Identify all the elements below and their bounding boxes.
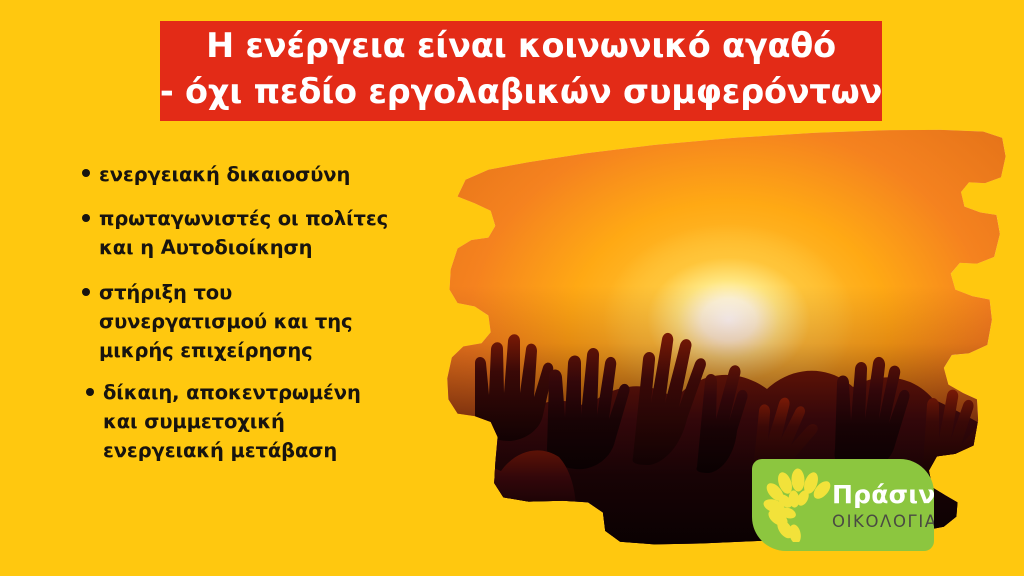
title-line-2: - όχι πεδίο εργολαβικών συμφερόντων xyxy=(160,69,882,115)
bullet-line: δίκαιη, αποκεντρωμένη xyxy=(103,381,361,404)
logo-text-block: Πράσινοι ΟΙΚΟΛΟΓΙΑ! xyxy=(832,481,934,533)
logo-prasinoi[interactable]: Πράσινοι ΟΙΚΟΛΟΓΙΑ! xyxy=(752,459,934,551)
bullet-item-text: δίκαιη, αποκεντρωμένη και συμμετοχική εν… xyxy=(103,378,361,465)
poster-canvas: Η ενέργεια είναι κοινωνικό αγαθό - όχι π… xyxy=(0,0,1024,576)
bullet-list: ενεργειακή δικαιοσύνη πρωταγωνιστές οι π… xyxy=(82,160,432,480)
bullet-line: ενεργειακή μετάβαση xyxy=(103,439,337,462)
list-item: στήριξη του συνεργατισμού και της μικρής… xyxy=(82,278,432,365)
sunflower-icon xyxy=(763,468,835,542)
bullet-line: μικρής επιχείρησης xyxy=(99,339,313,362)
bullet-line: ενεργειακή δικαιοσύνη xyxy=(99,163,350,186)
title-line-1: Η ενέργεια είναι κοινωνικό αγαθό xyxy=(206,23,836,69)
bullet-dot-icon xyxy=(82,169,90,177)
logo-name: Πράσινοι xyxy=(832,481,934,508)
bullet-dot-icon xyxy=(86,388,94,396)
logo-subtitle: ΟΙΚΟΛΟΓΙΑ! xyxy=(832,511,934,533)
bullet-item-text: ενεργειακή δικαιοσύνη xyxy=(99,160,350,189)
list-item: δίκαιη, αποκεντρωμένη και συμμετοχική εν… xyxy=(82,378,432,465)
bullet-line: και συμμετοχική xyxy=(103,410,285,433)
bullet-line: και η Αυτοδιοίκηση xyxy=(99,236,312,259)
title-banner: Η ενέργεια είναι κοινωνικό αγαθό - όχι π… xyxy=(160,21,882,121)
bullet-dot-icon xyxy=(82,288,90,296)
bullet-item-text: πρωταγωνιστές οι πολίτες και η Αυτοδιοίκ… xyxy=(99,204,388,262)
bullet-line: στήριξη του xyxy=(99,281,232,304)
bullet-line: πρωταγωνιστές οι πολίτες xyxy=(99,207,388,230)
list-item: πρωταγωνιστές οι πολίτες και η Αυτοδιοίκ… xyxy=(82,204,432,262)
bullet-item-text: στήριξη του συνεργατισμού και της μικρής… xyxy=(99,278,353,365)
bullet-line: συνεργατισμού και της xyxy=(99,310,353,333)
list-item: ενεργειακή δικαιοσύνη xyxy=(82,160,432,189)
bullet-dot-icon xyxy=(82,214,90,222)
